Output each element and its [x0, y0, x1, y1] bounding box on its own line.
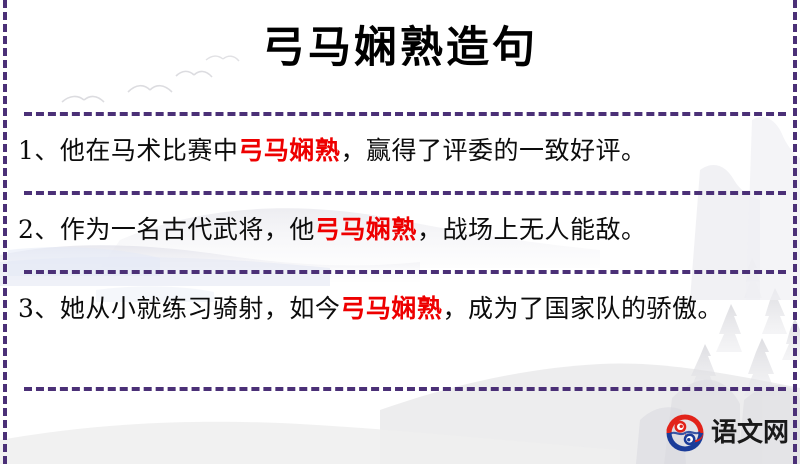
document-page: 弓马娴熟造句 1、他在马术比赛中弓马娴熟，赢得了评委的一致好评。 2、作为一名古… [0, 0, 800, 464]
yinyang-fish-logo-icon [664, 412, 706, 454]
sentence-2-text-after: ，战场上无人能敌。 [417, 215, 647, 244]
separator-1 [24, 112, 786, 116]
site-watermark: 语文网 [664, 412, 789, 454]
sentence-row-3: 3、她从小就练习骑射，如今弓马娴熟，成为了国家队的骄傲。 [18, 288, 774, 330]
separator-4 [24, 387, 786, 391]
sentence-3-text-after: ，成为了国家队的骄傲。 [442, 294, 723, 323]
sentence-2-text-before: 作为一名古代武将，他 [60, 215, 315, 244]
sentence-3-keyword: 弓马娴熟 [340, 294, 442, 323]
sentence-2-number: 2、 [18, 215, 60, 244]
watermark-label: 语文网 [711, 418, 789, 448]
sentence-1-text-after: ，赢得了评委的一致好评。 [340, 136, 646, 165]
sentence-row-1: 1、他在马术比赛中弓马娴熟，赢得了评委的一致好评。 [18, 130, 774, 172]
sentence-1-keyword: 弓马娴熟 [238, 136, 340, 165]
sentence-3-text-before: 她从小就练习骑射，如今 [60, 294, 341, 323]
sentence-3-number: 3、 [18, 294, 60, 323]
sentence-1-number: 1、 [18, 136, 60, 165]
sentence-1-text-before: 他在马术比赛中 [60, 136, 239, 165]
separator-3 [24, 270, 786, 274]
separator-2 [24, 191, 786, 195]
page-title: 弓马娴熟造句 [0, 18, 800, 78]
sentence-2-keyword: 弓马娴熟 [315, 215, 417, 244]
sentence-row-2: 2、作为一名古代武将，他弓马娴熟，战场上无人能敌。 [18, 209, 774, 251]
